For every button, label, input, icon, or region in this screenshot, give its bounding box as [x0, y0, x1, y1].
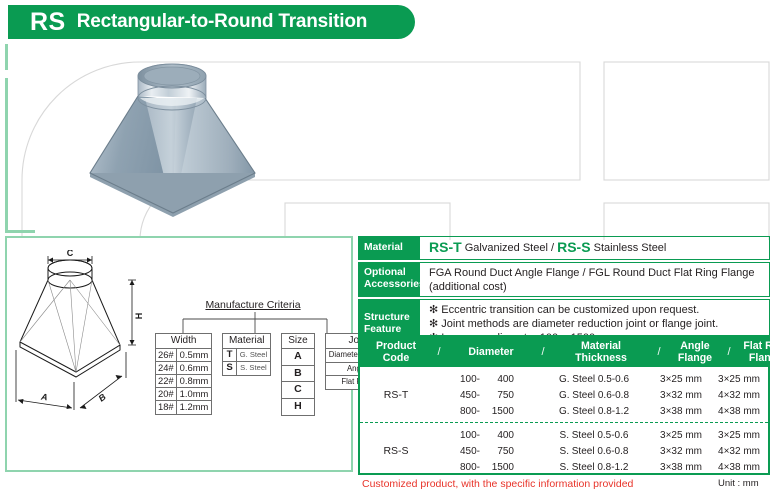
- diameter-from: 100-: [454, 430, 480, 441]
- flat-ring-flange: 4×32 mm: [710, 390, 768, 401]
- group-rows-rs-s: 100-400 S. Steel 0.5-0.6 3×25 mm 3×25 mm…: [432, 427, 768, 475]
- left-accent-stripe-body: [5, 78, 8, 230]
- svg-text:A: A: [40, 391, 49, 402]
- diameter-from: 800-: [454, 406, 480, 417]
- table-row: C: [282, 382, 315, 399]
- header-material-thickness: Material Thickness: [550, 340, 652, 364]
- structure-bullet-2: ✻ Joint methods are diameter reduction j…: [429, 317, 718, 331]
- spec-value-optional: FGA Round Duct Angle Flange / FGL Round …: [420, 262, 770, 297]
- header-separator-2: /: [536, 346, 550, 359]
- criteria-material-header: Material: [223, 334, 271, 349]
- svg-text:B: B: [97, 391, 109, 403]
- header-flat-ring-flange: Flat Ring Flange: [734, 340, 775, 364]
- header-separator-4: /: [724, 346, 734, 359]
- table-row: A: [282, 348, 315, 365]
- table-row: H: [282, 398, 315, 415]
- angle-flange: 3×25 mm: [652, 430, 710, 441]
- header-separator-1: /: [432, 346, 446, 359]
- diameter-to: 1500: [488, 462, 514, 473]
- criteria-width-table: Width 26#0.5mm 24#0.6mm 22#0.8mm 20#1.0m…: [155, 333, 212, 415]
- flat-ring-flange: 4×38 mm: [710, 462, 768, 473]
- bottom-accent-stripe: [5, 230, 35, 233]
- material-thickness: S. Steel 0.6-0.8: [536, 446, 652, 457]
- product-specification-table: Product Code / Diameter / Material Thick…: [358, 335, 770, 475]
- footer-note: Customized product, with the specific in…: [362, 478, 633, 490]
- spec-label-material: Material: [358, 236, 420, 260]
- specification-table: Material RS-T Galvanized Steel / RS-S St…: [358, 236, 770, 350]
- table-row: 100-400 S. Steel 0.5-0.6 3×25 mm 3×25 mm: [432, 427, 768, 443]
- material-divider: /: [551, 241, 554, 255]
- left-accent-stripe-top: [5, 44, 8, 70]
- diameter-from: 450-: [454, 390, 480, 401]
- material-code-s: RS-S: [557, 239, 590, 257]
- angle-flange: 3×32 mm: [652, 446, 710, 457]
- criteria-size-table: Size A B C H: [281, 333, 315, 416]
- header-diameter: Diameter: [446, 346, 536, 358]
- material-thickness: S. Steel 0.5-0.6: [536, 430, 652, 441]
- header-separator-3: /: [652, 346, 666, 359]
- angle-flange: 3×25 mm: [652, 374, 710, 385]
- group-code-rs-t: RS-T: [360, 389, 432, 401]
- angle-flange: 3×38 mm: [652, 406, 710, 417]
- angle-flange: 3×38 mm: [652, 462, 710, 473]
- flat-ring-flange: 4×38 mm: [710, 406, 768, 417]
- diameter-to: 750: [488, 446, 514, 457]
- table-row: 800-1500 G. Steel 0.8-1.2 3×38 mm 4×38 m…: [432, 403, 768, 419]
- diameter-to: 400: [488, 430, 514, 441]
- header-product-code: Product Code: [360, 340, 432, 364]
- criteria-size-header: Size: [282, 334, 315, 349]
- diameter-to: 400: [488, 374, 514, 385]
- svg-text:H: H: [134, 313, 144, 320]
- svg-text:C: C: [67, 250, 74, 258]
- table-row: 18#1.2mm: [156, 401, 212, 414]
- flat-ring-flange: 3×25 mm: [710, 374, 768, 385]
- product-table-header: Product Code / Diameter / Material Thick…: [360, 337, 768, 367]
- material-thickness: G. Steel 0.6-0.8: [536, 390, 652, 401]
- diameter-to: 750: [488, 390, 514, 401]
- table-row: 450-750 S. Steel 0.6-0.8 3×32 mm 4×32 mm: [432, 443, 768, 459]
- criteria-material-table: Material TG. Steel SS. Steel: [222, 333, 271, 376]
- product-code-badge: RS: [30, 8, 66, 37]
- table-row: SS. Steel: [223, 362, 271, 375]
- spec-value-material: RS-T Galvanized Steel / RS-S Stainless S…: [420, 236, 770, 260]
- material-text-t: Galvanized Steel: [465, 241, 548, 255]
- group-rows-rs-t: 100-400 G. Steel 0.5-0.6 3×25 mm 3×25 mm…: [432, 371, 768, 419]
- footer-unit: Unit : mm: [718, 478, 759, 489]
- product-group-rs-t: RS-T 100-400 G. Steel 0.5-0.6 3×25 mm 3×…: [360, 367, 768, 423]
- material-thickness: G. Steel 0.5-0.6: [536, 374, 652, 385]
- diameter-to: 1500: [488, 406, 514, 417]
- material-thickness: S. Steel 0.8-1.2: [536, 462, 652, 473]
- table-row: 800-1500 S. Steel 0.8-1.2 3×38 mm 4×38 m…: [432, 459, 768, 475]
- diameter-from: 100-: [454, 374, 480, 385]
- angle-flange: 3×32 mm: [652, 390, 710, 401]
- group-code-rs-s: RS-S: [360, 445, 432, 457]
- diameter-from: 800-: [454, 462, 480, 473]
- criteria-tree-connector: [155, 312, 355, 334]
- table-row: 26#0.5mm: [156, 348, 212, 361]
- optional-text: FGA Round Duct Angle Flange / FGL Round …: [429, 266, 769, 294]
- table-row: 20#1.0mm: [156, 388, 212, 401]
- spec-row-material: Material RS-T Galvanized Steel / RS-S St…: [358, 236, 770, 260]
- material-text-s: Stainless Steel: [594, 241, 667, 255]
- table-row: 100-400 G. Steel 0.5-0.6 3×25 mm 3×25 mm: [432, 371, 768, 387]
- product-group-rs-s: RS-S 100-400 S. Steel 0.5-0.6 3×25 mm 3×…: [360, 423, 768, 478]
- criteria-title: Manufacture Criteria: [163, 299, 343, 311]
- flat-ring-flange: 4×32 mm: [710, 446, 768, 457]
- material-thickness: G. Steel 0.8-1.2: [536, 406, 652, 417]
- criteria-width-header: Width: [156, 334, 212, 349]
- table-row: 450-750 G. Steel 0.6-0.8 3×32 mm 4×32 mm: [432, 387, 768, 403]
- spec-row-optional: Optional Accessories FGA Round Duct Angl…: [358, 262, 770, 297]
- page-title: Rectangular-to-Round Transition: [77, 11, 367, 33]
- table-row: 24#0.6mm: [156, 361, 212, 374]
- material-code-t: RS-T: [429, 239, 462, 257]
- table-row: B: [282, 365, 315, 382]
- structure-bullet-1: ✻ Eccentric transition can be customized…: [429, 303, 699, 317]
- table-row: TG. Steel: [223, 348, 271, 361]
- diameter-from: 450-: [454, 446, 480, 457]
- spec-label-optional: Optional Accessories: [358, 262, 420, 297]
- flat-ring-flange: 3×25 mm: [710, 430, 768, 441]
- header-banner: RS Rectangular-to-Round Transition: [8, 5, 415, 39]
- product-image: [45, 48, 295, 233]
- table-row: 22#0.8mm: [156, 375, 212, 388]
- dimension-line-drawing: C H A B: [8, 250, 148, 425]
- header-angle-flange: Angle Flange: [666, 340, 724, 364]
